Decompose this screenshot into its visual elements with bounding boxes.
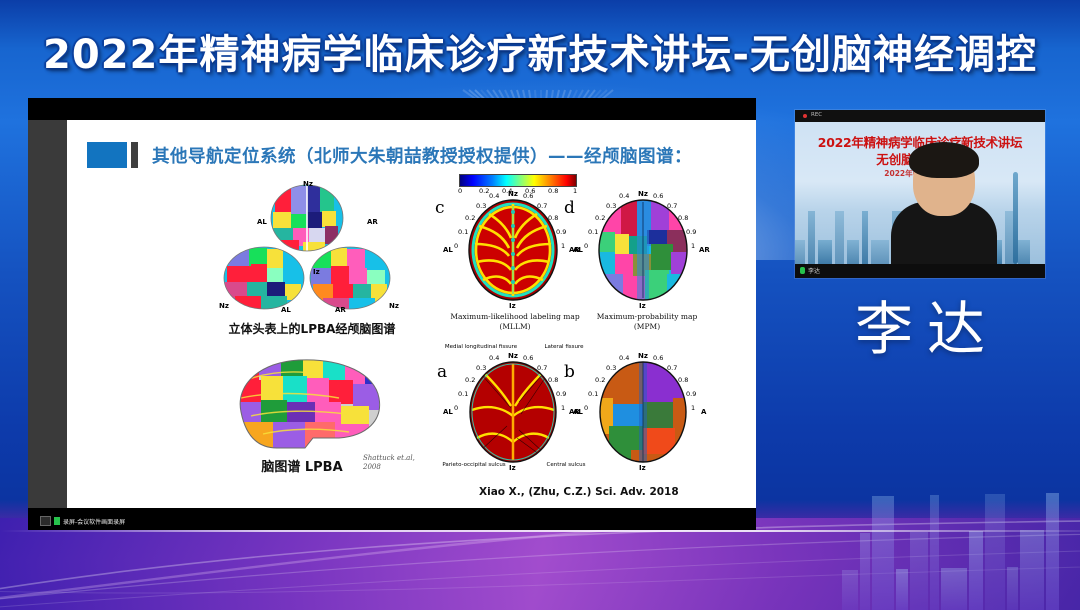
panel-b-tick-01: 0.1 [588,390,598,398]
figure-credit: Xiao X., (Zhu, C.Z.) Sci. Adv. 2018 [479,486,679,498]
panel-b-map [589,358,697,466]
panel-d-tick-02: 0.2 [595,214,605,222]
panel-b-anchor-a: A [701,408,706,416]
panel-c-anchor-iz: Iz [509,302,516,310]
panel-c-caption-line1: Maximum-likelihood labeling map [445,312,585,321]
panel-d-map [589,196,697,304]
panel-d-tick-1: 1 [691,242,695,250]
panel-b-anchor-iz: Iz [639,464,646,472]
video-statusbar: 李达 [795,264,1045,278]
screen: 2022年精神病学临床诊疗新技术讲坛-无创脑神经调控 其他导航定位系统（北师大朱… [0,0,1080,610]
slide-letterbox-top [28,98,756,120]
microphone-icon[interactable] [800,267,805,274]
participant-silhouette [891,146,997,264]
skyline-building [985,494,1005,610]
colorbar-tick-0: 0 [458,187,462,195]
record-indicator-icon [803,114,807,118]
panel-c-tick-0: 0 [454,242,458,250]
panel-b-tick-04: 0.4 [619,354,629,362]
panel-a-letter: a [437,362,447,382]
panel-b-tick-0: 0 [584,404,588,412]
skyline-building [941,568,967,610]
skyline-building [1007,567,1018,610]
panel-a-anchor-iz: Iz [509,464,516,472]
panel-a-tick-0: 0 [454,404,458,412]
panel-c-tick-01: 0.1 [458,228,468,236]
panel-d-anchor-nz: Nz [638,190,648,198]
panel-b-tick-03: 0.3 [606,364,616,372]
slide-letterbox-bottom [28,508,756,530]
panel-d-letter: d [564,198,575,218]
video-tile[interactable]: REC 2022年精神病学临床诊疗新技术讲坛 无创脑神经调控 2022年6月2日… [795,110,1045,278]
panel-c-tick-03: 0.3 [476,202,486,210]
panel-c-map [459,196,567,304]
colorbar [459,174,577,187]
banner-title: 2022年精神病学临床诊疗新技术讲坛-无创脑神经调控 [0,22,1080,80]
head3d-label-al-top: AL [257,218,267,226]
panel-c-tick-07: 0.7 [537,202,547,210]
panel-a-tick-04: 0.4 [489,354,499,362]
video-feed: 2022年精神病学临床诊疗新技术讲坛 无创脑神经调控 2022年6月2日 周四 [795,122,1045,264]
colorbar-tick-08: 0.8 [548,187,558,195]
brain-lpba-caption: 脑图谱 LPBA [227,456,377,475]
background-city-skyline [840,430,1080,610]
skyline-building [969,531,983,610]
panel-a-anno-lateral-text: Lateral fissure [544,344,583,350]
skyline-building [896,569,908,610]
panel-a-tick-01: 0.1 [458,390,468,398]
panel-b-tick-02: 0.2 [595,376,605,384]
panel-b-tick-06: 0.6 [653,354,663,362]
panel-c-letter: c [435,198,445,218]
brain-lpba-figure [217,350,397,460]
brain-lpba-source: Shattuck et.al, 2008 [363,454,433,472]
panel-a-anchor-nz: Nz [508,352,518,360]
skyline-building [1046,493,1059,610]
panel-c-tick-1: 1 [561,242,565,250]
presentation-slide-frame[interactable]: 其他导航定位系统（北师大朱朝喆教授授权提供）——经颅脑图谱： [28,98,756,530]
panel-a-map [459,358,567,466]
head3d-label-al-bottom: AL [281,306,291,314]
skyline-building [872,496,894,610]
panel-a-tick-09: 0.9 [556,390,566,398]
panel-b-tick-09: 0.9 [686,390,696,398]
panel-a-tick-08: 0.8 [548,376,558,384]
panel-d-anchor-iz: Iz [639,302,646,310]
head3d-label-iz: Iz [313,268,320,276]
panel-d-tick-07: 0.7 [667,202,677,210]
panel-d-tick-06: 0.6 [653,192,663,200]
panel-b-tick-08: 0.8 [678,376,688,384]
panel-c-tick-06: 0.6 [523,192,533,200]
skyline-building [795,240,805,264]
head3d-figure [217,178,397,318]
panel-c-tick-02: 0.2 [465,214,475,222]
panel-a-anno-medial: Medial longitudinal fissure [439,344,523,350]
head3d-label-ar-top: AR [367,218,378,226]
skyline-building [1018,240,1030,264]
skyline-building [930,495,939,610]
head3d-label-nz-left: Nz [219,302,229,310]
panel-d-tick-04: 0.4 [619,192,629,200]
panel-b-tick-1: 1 [691,404,695,412]
panel-c-caption-line2: (MLLM) [445,322,585,331]
event-banner: 2022年精神病学临床诊疗新技术讲坛-无创脑神经调控 [0,0,1080,96]
slide-heading-row: 其他导航定位系统（北师大朱朝喆教授授权提供）——经颅脑图谱： [87,142,692,168]
skyline-building [860,533,870,610]
skyline-building [1020,530,1044,610]
skyline-building [842,570,858,610]
panel-b-anchor-nz: Nz [638,352,648,360]
skyline-building [847,240,859,264]
panel-c-anchor-nz: Nz [508,190,518,198]
head3d-label-ar-bottom: AR [335,306,346,314]
panel-c-anchor-al: AL [443,246,453,254]
head3d-label-nz-right: Nz [389,302,399,310]
panel-d-anchor-al: AL [573,246,583,254]
record-label: REC [811,112,822,118]
recorder-status-icon [54,517,60,525]
panel-a-anno-lateral: Lateral fissure [535,344,593,350]
panel-a-anchor-al: AL [443,408,453,416]
panel-a-tick-1: 1 [561,404,565,412]
speaker-name: 李达 [795,282,1045,366]
panel-d-caption-line1: Maximum-probability map [577,312,717,321]
panel-b-letter: b [564,362,575,382]
slide-heading-text: 其他导航定位系统（北师大朱朝喆教授授权提供）——经颅脑图谱： [152,143,692,168]
background-divider-line [0,530,1080,532]
panel-d-tick-09: 0.9 [686,228,696,236]
colorbar-tick-02: 0.2 [479,187,489,195]
panel-a-tick-07: 0.7 [537,364,547,372]
recorder-icon [40,516,51,526]
screen-recorder-watermark: 录屏-会议软件画面录屏 [40,516,125,526]
panel-c-tick-04: 0.4 [489,192,499,200]
skyline-building [871,240,889,264]
panel-d-anchor-ar: AR [699,246,710,254]
canton-tower [1013,172,1018,264]
heading-accent-bar [131,142,138,168]
panel-d-tick-03: 0.3 [606,202,616,210]
panel-d-tick-01: 0.1 [588,228,598,236]
skyline-building [818,240,832,264]
video-titlebar: REC [795,110,1045,122]
participant-hair [909,142,979,178]
panel-c-tick-08: 0.8 [548,214,558,222]
skyline-building [862,211,868,264]
skyline-building [835,211,844,264]
panel-b-tick-07: 0.7 [667,364,677,372]
skyline-building [910,532,928,610]
panel-d-tick-08: 0.8 [678,214,688,222]
panel-c-tick-09: 0.9 [556,228,566,236]
heading-accent-square [87,142,127,168]
panel-a-tick-02: 0.2 [465,376,475,384]
figure-area: Nz AL AR Iz AL Nz AR Nz 立体头表上的LPBA经颅脑图谱 [67,172,756,508]
colorbar-tick-1: 1 [573,187,577,195]
head3d-label-nz-top: Nz [303,180,313,188]
panel-a-tick-06: 0.6 [523,354,533,362]
head3d-caption: 立体头表上的LPBA经颅脑图谱 [197,320,427,337]
panel-b-anchor-al: AL [573,408,583,416]
panel-d-tick-0: 0 [584,242,588,250]
video-participant-name: 李达 [808,266,820,275]
panel-d-caption-line2: (MPM) [577,322,717,331]
recorder-watermark-text: 录屏-会议软件画面录屏 [63,517,125,526]
panel-a-tick-03: 0.3 [476,364,486,372]
slide-canvas: 其他导航定位系统（北师大朱朝喆教授授权提供）——经颅脑图谱： [67,120,756,508]
panel-a-anno-medial-text: Medial longitudinal fissure [445,344,517,350]
skyline-building [808,211,815,264]
